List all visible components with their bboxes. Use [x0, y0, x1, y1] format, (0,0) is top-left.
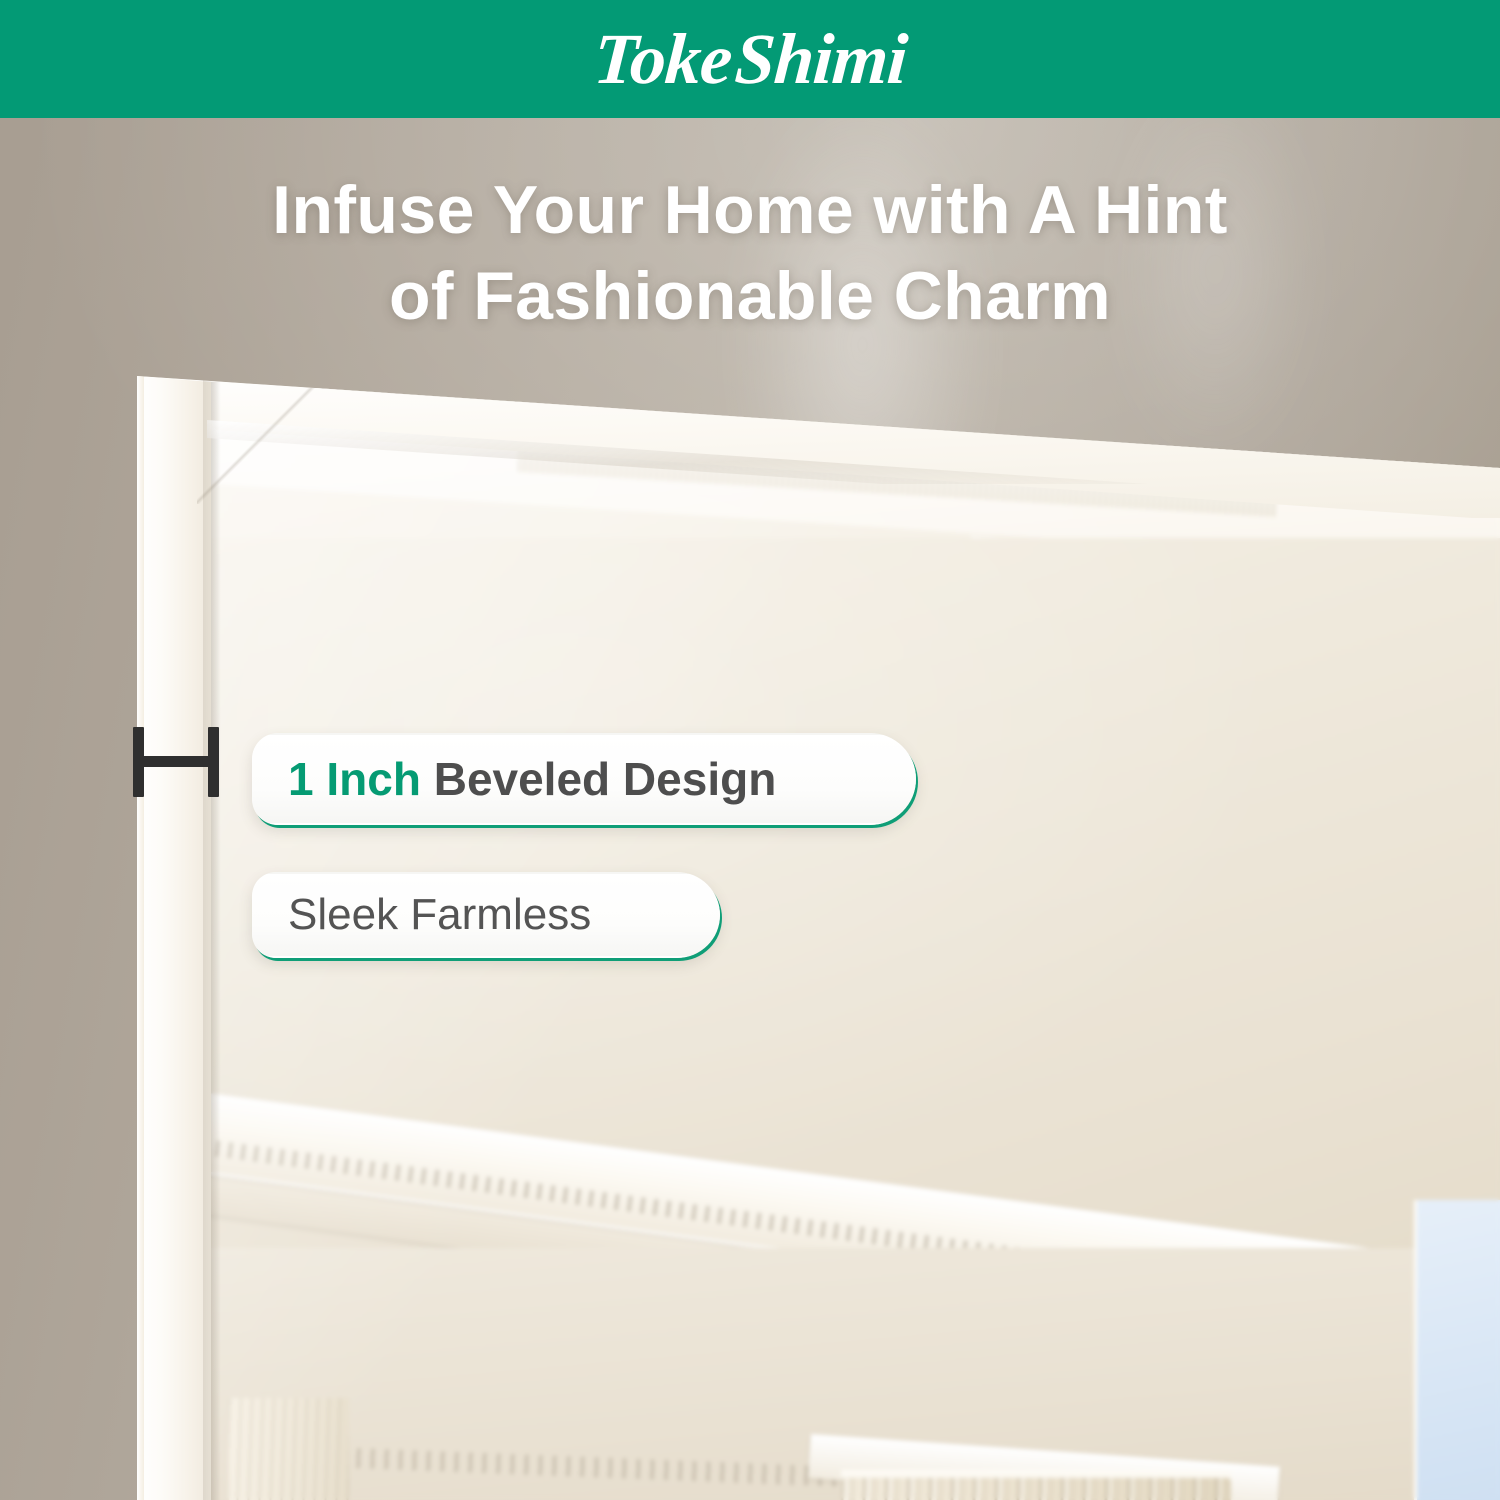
- dimension-marker-bar: [139, 756, 213, 767]
- mirror-outer-edge-highlight: [137, 376, 144, 1500]
- feature-pill-2-text: Sleek Farmless: [288, 893, 591, 937]
- reflected-window-edge-sliver: [1414, 1200, 1500, 1500]
- mirror-corner-mitre-line: [197, 374, 327, 504]
- mirror-left-bevel-rail: [137, 368, 211, 1500]
- product-lifestyle-banner: TokeShimi Infuse Your Home with A Hint o…: [0, 0, 1500, 1500]
- headline-line-2: of Fashionable Charm: [0, 254, 1500, 340]
- feature-pill-1-accent: 1 Inch: [288, 753, 421, 805]
- feature-pill-1-rest: Beveled Design: [421, 753, 776, 805]
- mirror-left-bevel-line: [203, 378, 219, 1500]
- headline-line-1: Infuse Your Home with A Hint: [272, 172, 1228, 248]
- brand-header-bar: TokeShimi: [0, 0, 1500, 118]
- reflected-curtain-left: [229, 1398, 349, 1500]
- dimension-marker-cap-right: [208, 727, 219, 797]
- brand-logo-word-2: Shimi: [732, 19, 909, 99]
- feature-pill-1-text: 1 Inch Beveled Design: [288, 756, 776, 802]
- bevel-dimension-marker-icon: [133, 727, 219, 797]
- feature-pill-sleek-frameless: Sleek Farmless: [252, 872, 720, 958]
- reflected-curtain-main: [841, 1478, 1231, 1500]
- brand-logo-word-1: Toke: [591, 19, 734, 99]
- feature-pill-beveled-design: 1 Inch Beveled Design: [252, 733, 916, 825]
- page-title: Infuse Your Home with A Hint of Fashiona…: [0, 168, 1500, 339]
- brand-logo: TokeShimi: [591, 23, 908, 95]
